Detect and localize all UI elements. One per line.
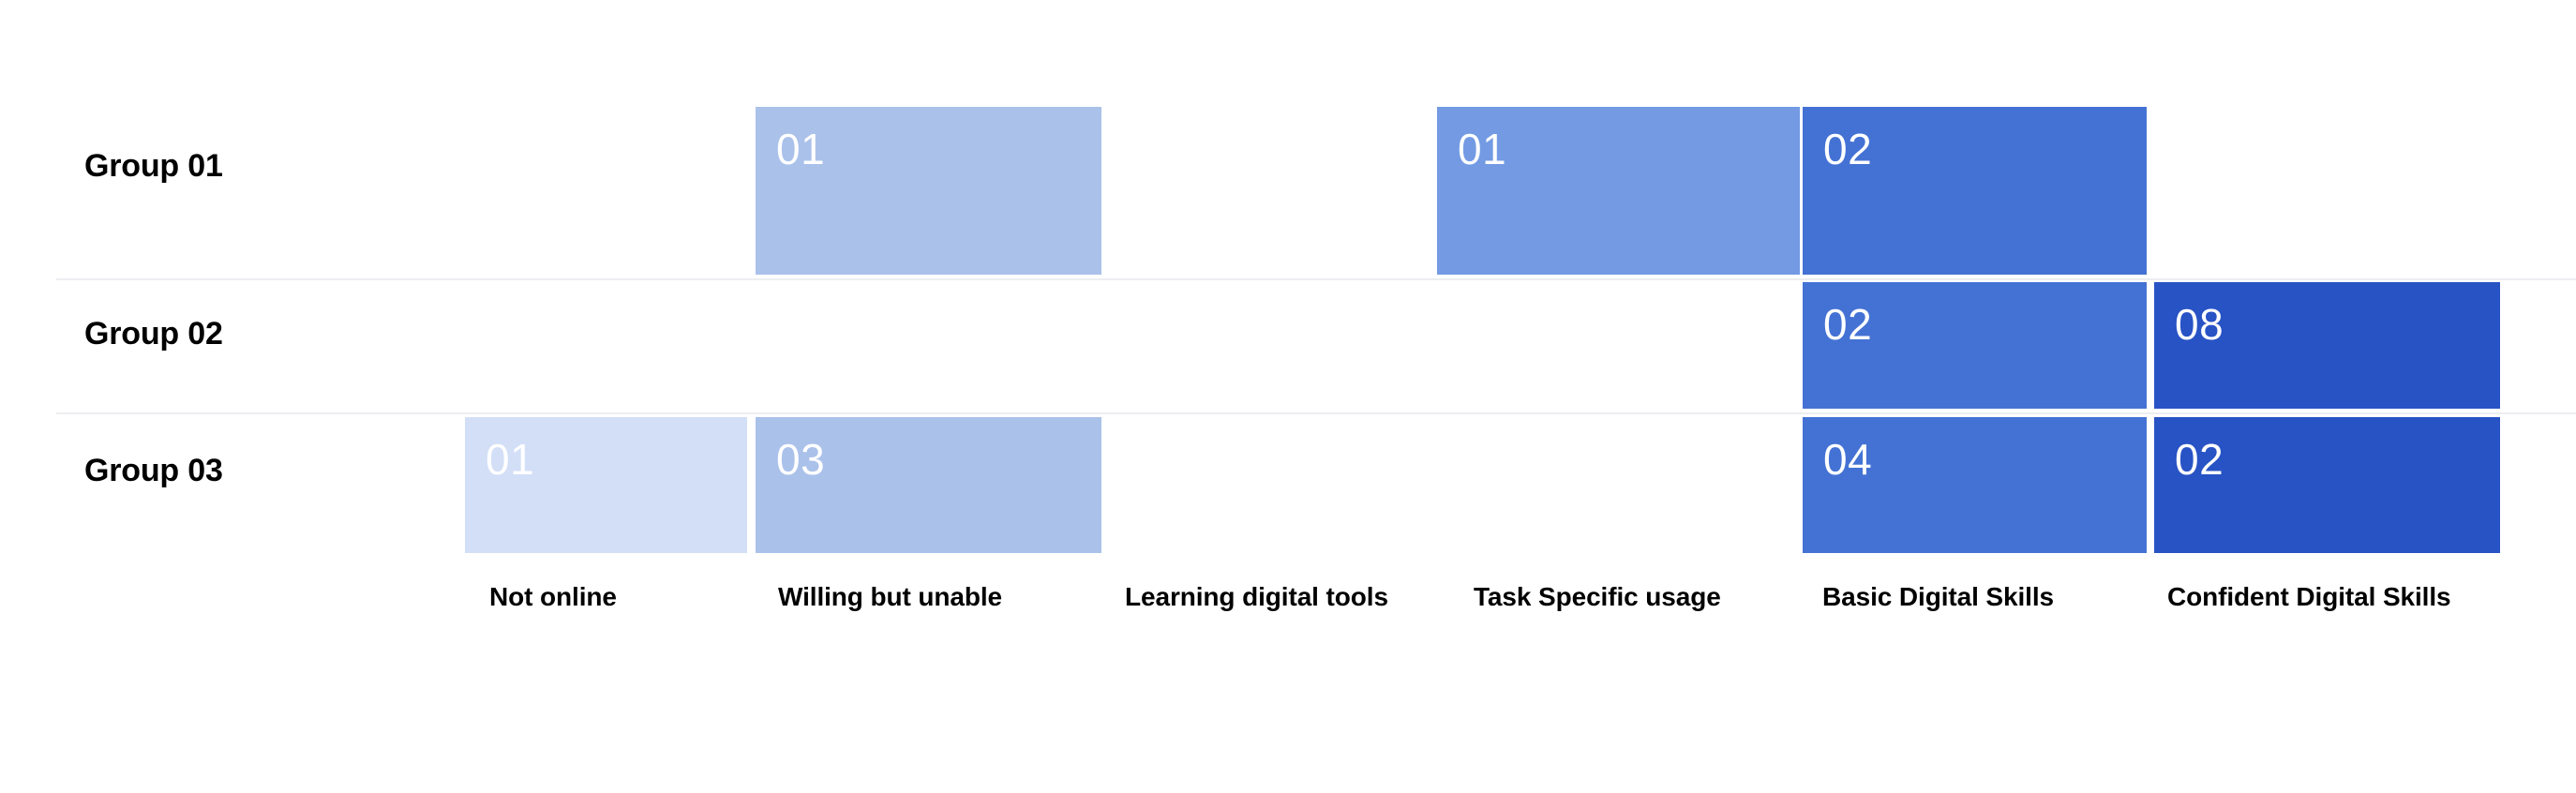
bar-group-02-basic-digital-skills[interactable]: 02 bbox=[1803, 282, 2147, 409]
chart-canvas: Group 01 01 01 02 Group 02 02 08 bbox=[0, 0, 2576, 793]
chart-row-group-02: Group 02 02 08 bbox=[0, 282, 2576, 409]
row-label-group-01: Group 01 bbox=[84, 148, 223, 185]
axis-label-learning-digital-tools: Learning digital tools bbox=[1125, 581, 1406, 613]
bar-group-01-willing-but-unable[interactable]: 01 bbox=[756, 107, 1101, 275]
bar-value-label: 04 bbox=[1823, 438, 1872, 481]
axis-label-basic-digital-skills: Basic Digital Skills bbox=[1822, 581, 2085, 613]
bar-value-label: 02 bbox=[2175, 438, 2224, 481]
bar-value-label: 08 bbox=[2175, 303, 2224, 346]
bar-group-03-willing-but-unable[interactable]: 03 bbox=[756, 417, 1101, 553]
row-separator-2 bbox=[56, 412, 2576, 414]
bar-value-label: 01 bbox=[776, 127, 825, 171]
bar-value-label: 03 bbox=[776, 438, 825, 481]
bar-value-label: 02 bbox=[1823, 303, 1872, 346]
bar-value-label: 01 bbox=[1458, 127, 1506, 171]
row-separator-1 bbox=[56, 278, 2576, 280]
bar-group-02-confident-digital-skills[interactable]: 08 bbox=[2154, 282, 2500, 409]
bar-value-label: 01 bbox=[486, 438, 534, 481]
bar-group-01-task-specific-usage[interactable]: 01 bbox=[1437, 107, 1800, 275]
axis-label-not-online: Not online bbox=[489, 581, 771, 613]
chart-row-group-03: Group 03 01 03 04 02 bbox=[0, 417, 2576, 553]
axis-label-confident-digital-skills: Confident Digital Skills bbox=[2167, 581, 2477, 613]
bar-group-03-basic-digital-skills[interactable]: 04 bbox=[1803, 417, 2147, 553]
row-label-group-03: Group 03 bbox=[84, 453, 223, 489]
bar-group-01-basic-digital-skills[interactable]: 02 bbox=[1803, 107, 2147, 275]
axis-label-task-specific-usage: Task Specific usage bbox=[1474, 581, 1736, 613]
chart-row-group-01: Group 01 01 01 02 bbox=[0, 107, 2576, 275]
bar-group-03-confident-digital-skills[interactable]: 02 bbox=[2154, 417, 2500, 553]
bar-value-label: 02 bbox=[1823, 127, 1872, 171]
stacked-bar-matrix: Group 01 01 01 02 Group 02 02 08 bbox=[0, 0, 2576, 793]
row-label-group-02: Group 02 bbox=[84, 316, 223, 352]
bar-group-03-not-online[interactable]: 01 bbox=[465, 417, 747, 553]
axis-label-willing-but-unable: Willing but unable bbox=[778, 581, 1041, 613]
